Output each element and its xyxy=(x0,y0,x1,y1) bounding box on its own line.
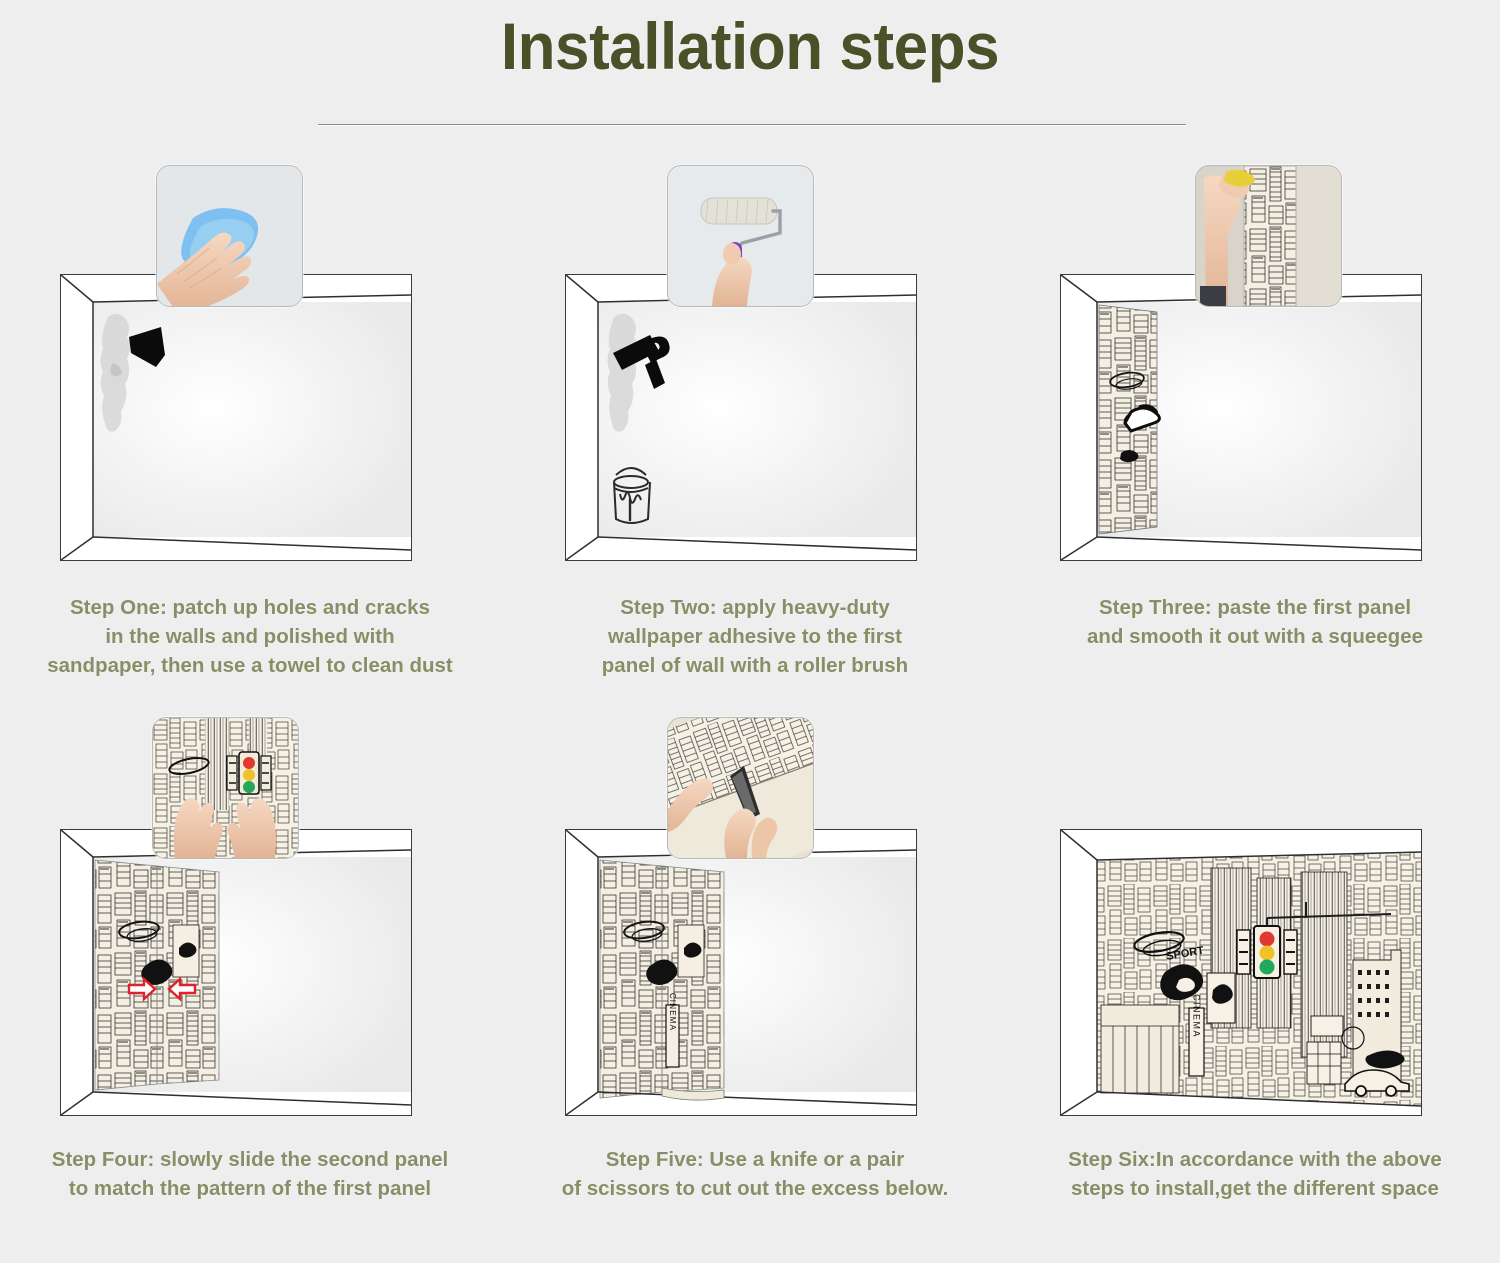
installation-steps-infographic: Installation steps xyxy=(0,0,1500,1263)
step-card-five: CINEMA xyxy=(505,705,1005,1260)
room-diagram-five: CINEMA xyxy=(565,829,917,1116)
step-caption-six: Step Six:In accordance with the above st… xyxy=(1005,1145,1500,1203)
photo-hands-matching-pattern xyxy=(152,717,299,859)
full-city-mural: SPORT xyxy=(1097,852,1421,1106)
step-card-six: SPORT xyxy=(1005,705,1500,1260)
step-card-three: Step Three: paste the first panel and sm… xyxy=(1005,150,1500,705)
traffic-light-icon xyxy=(227,752,271,794)
two-panels xyxy=(95,860,219,1090)
roller-sleeve xyxy=(701,198,777,224)
step-card-one: Step One: patch up holes and cracks in t… xyxy=(0,150,500,705)
steps-row-top: Step One: patch up holes and cracks in t… xyxy=(0,150,1500,705)
room-diagram-six: SPORT xyxy=(1060,829,1422,1116)
photo-apply-panel-squeegee xyxy=(1195,165,1342,307)
traffic-light-icon xyxy=(1237,926,1297,978)
step-caption-one: Step One: patch up holes and cracks in t… xyxy=(0,593,500,680)
photo-paint-roller xyxy=(667,165,814,307)
photo-hand-wiping-wall xyxy=(156,165,303,307)
step-card-four: Step Four: slowly slide the second panel… xyxy=(0,705,500,1260)
second-face-billboard xyxy=(1207,973,1235,1023)
header-divider xyxy=(318,124,1186,126)
room-diagram-one xyxy=(60,274,412,561)
step-caption-five: Step Five: Use a knife or a pair of scis… xyxy=(505,1145,1005,1203)
room-diagram-four xyxy=(60,829,412,1116)
svg-text:CINEMA: CINEMA xyxy=(668,993,677,1031)
svg-text:CINEMA: CINEMA xyxy=(1192,994,1202,1038)
two-panels: CINEMA xyxy=(600,860,724,1098)
photo-cutting-wallpaper xyxy=(667,717,814,859)
steps-row-bottom: Step Four: slowly slide the second panel… xyxy=(0,705,1500,1260)
step-caption-four: Step Four: slowly slide the second panel… xyxy=(0,1145,500,1203)
steps-grid: Step One: patch up holes and cracks in t… xyxy=(0,150,1500,1260)
page-title: Installation steps xyxy=(45,8,1455,84)
step-card-two: Step Two: apply heavy-duty wallpaper adh… xyxy=(505,150,1005,705)
step-caption-two: Step Two: apply heavy-duty wallpaper adh… xyxy=(505,593,1005,680)
step-caption-three: Step Three: paste the first panel and sm… xyxy=(1005,593,1500,651)
room-diagram-two xyxy=(565,274,917,561)
room-diagram-three xyxy=(1060,274,1422,561)
